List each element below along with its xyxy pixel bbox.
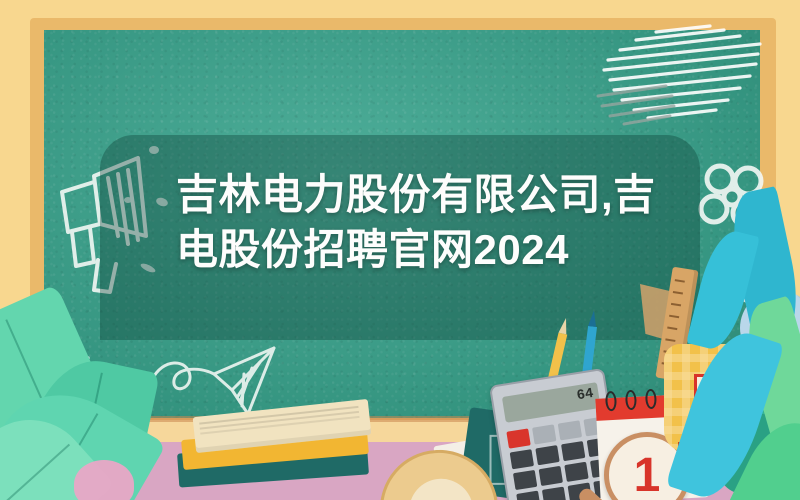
banner-image: 吉林电力股份有限公司,吉 电股份招聘官网2024 64 [0,0,800,500]
headline-line-2: 电股份招聘官网2024 [176,223,736,278]
calculator-key [542,487,566,500]
calculator-key [532,424,556,444]
calculator-key [506,428,530,448]
calculator-key [535,445,559,465]
calculator-key [564,462,588,482]
calculator-key [561,441,585,461]
calculator-key [510,449,534,469]
pink-flower-icon [74,460,134,500]
calculator-display-value: 64 [576,386,595,404]
headline-line-1: 吉林电力股份有限公司,吉 [176,171,656,218]
calculator-key [516,491,540,500]
calculator-key [539,466,563,486]
page-title: 吉林电力股份有限公司,吉 电股份招聘官网2024 [176,168,736,277]
calculator-key [513,470,537,490]
calculator-key [558,420,582,440]
calculator-screen: 64 [502,382,601,423]
